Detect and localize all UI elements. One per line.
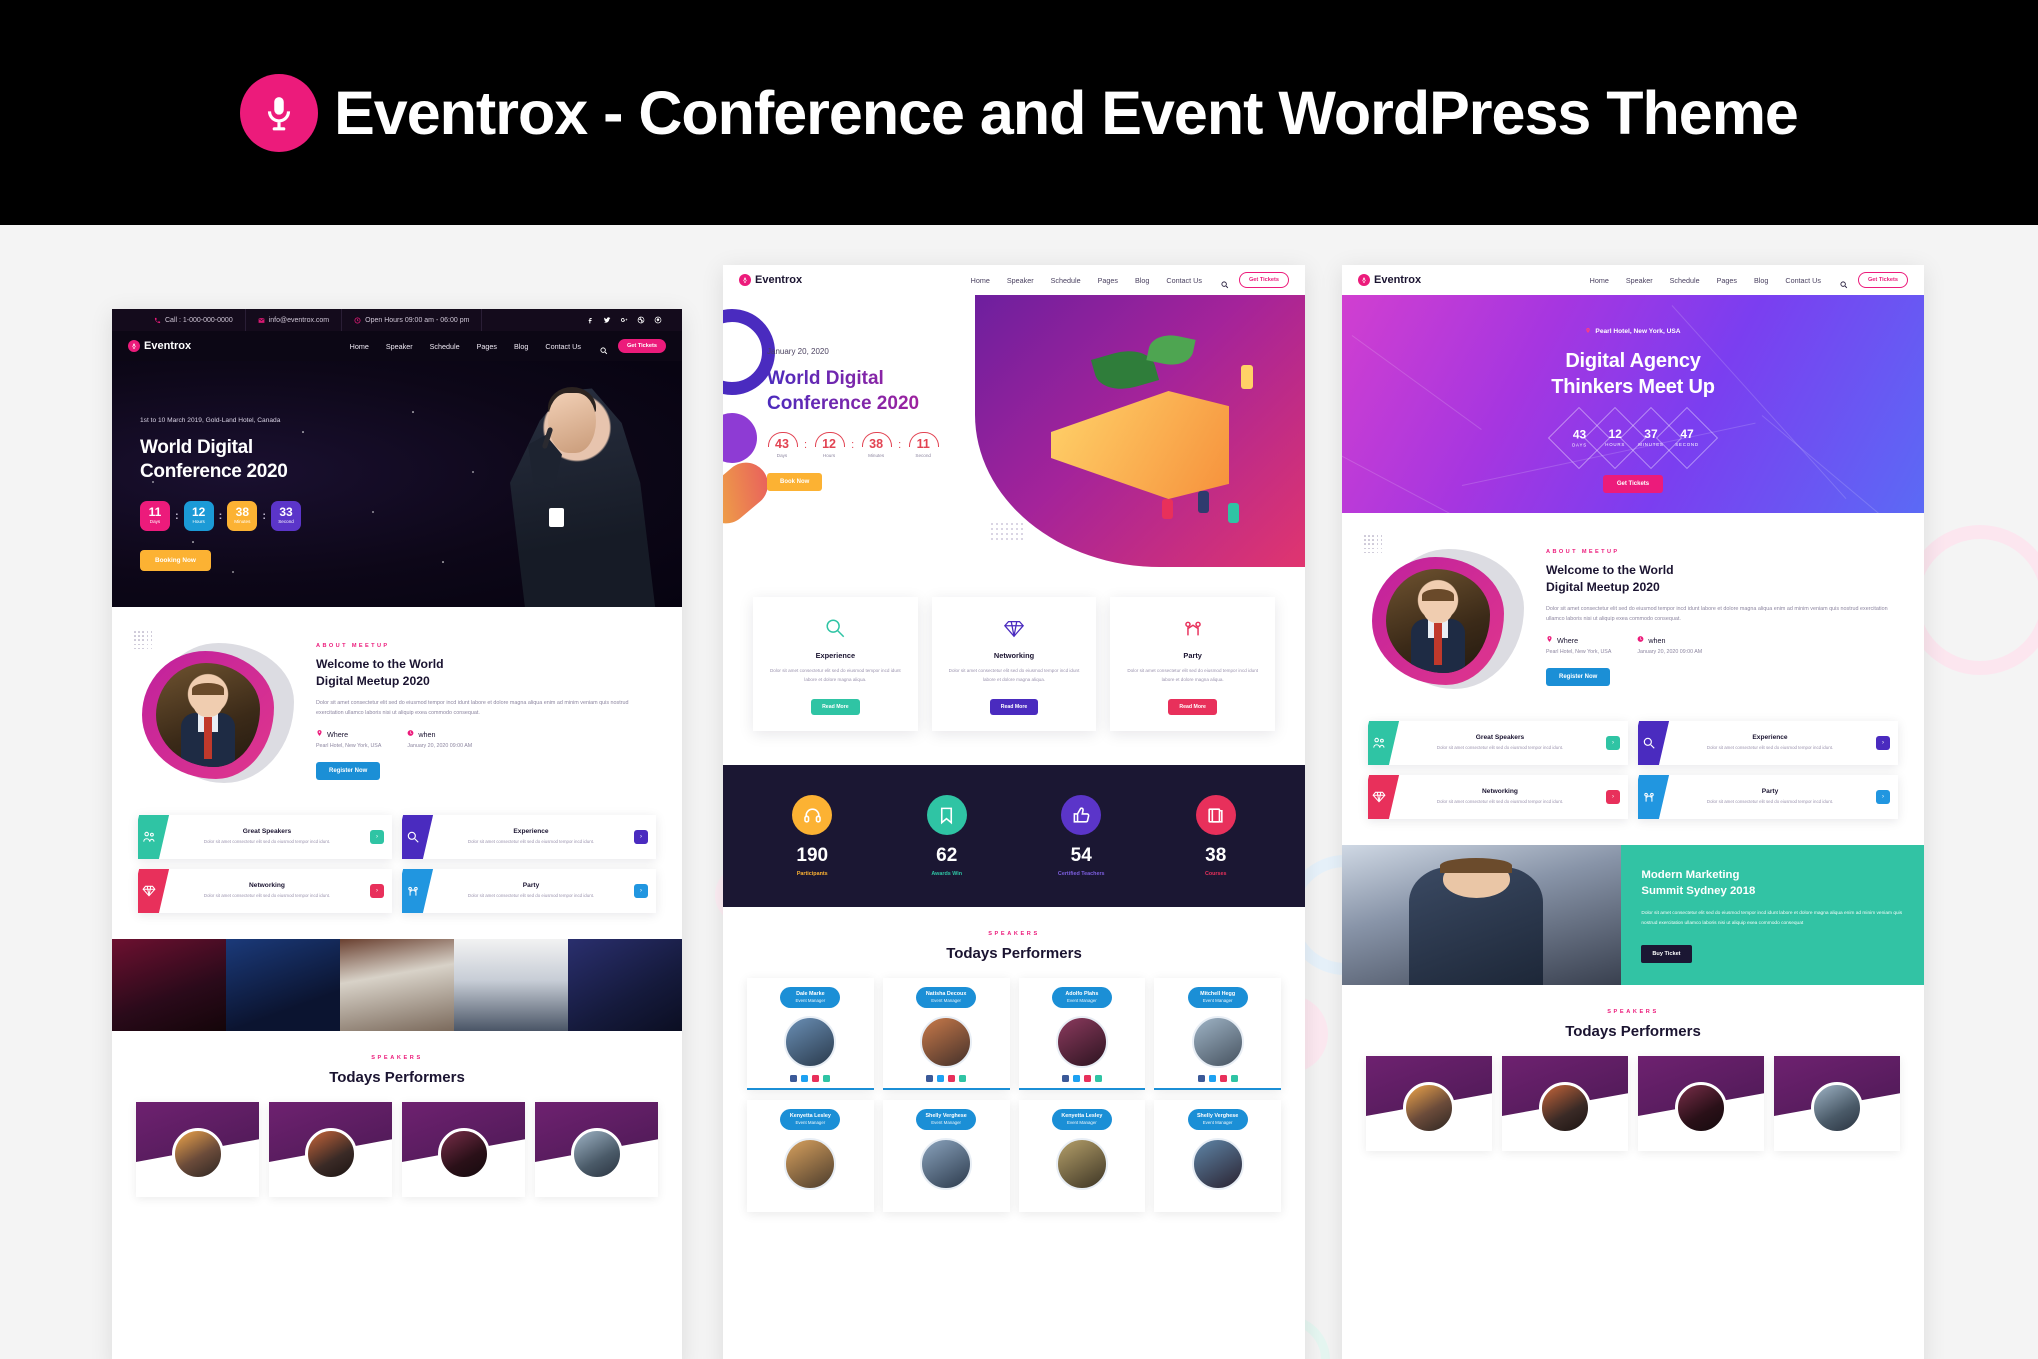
speaker-role: Event Manager xyxy=(922,1120,970,1126)
avatar xyxy=(1056,1138,1108,1190)
feature-cards: Great Speakers Dolor sit amet consectetu… xyxy=(112,807,682,939)
feature-title: Experience xyxy=(432,828,630,835)
social-links xyxy=(1160,1075,1275,1082)
search-icon[interactable] xyxy=(1839,276,1848,285)
facebook-icon[interactable] xyxy=(790,1075,797,1082)
envelope-icon xyxy=(258,317,265,324)
stat-label: Participants xyxy=(745,871,880,877)
stat-label: Courses xyxy=(1149,871,1284,877)
stat-certified-teachers: 54 Certified Teachers xyxy=(1014,795,1149,877)
speakers-heading: Todays Performers xyxy=(112,1069,682,1086)
hero-location-text: Pearl Hotel, New York, USA xyxy=(1595,328,1680,335)
chevron-right-icon[interactable]: › xyxy=(1876,736,1890,750)
about-when: when January 20, 2020 09:00 AM xyxy=(407,729,472,749)
microphone-icon xyxy=(739,274,751,286)
about-when-label: when xyxy=(418,730,435,739)
speaker-card[interactable]: Dale MarkeEvent Manager xyxy=(747,978,874,1090)
feature-text: Dolor sit amet consectetur elit sed do e… xyxy=(168,892,366,900)
nav-right: Get Tickets xyxy=(1839,272,1908,288)
hero-dark: 1st to 10 March 2019, Gold-Land Hotel, C… xyxy=(112,361,682,607)
thumbs-up-icon xyxy=(1061,795,1101,835)
avatar xyxy=(920,1138,972,1190)
speakers-kicker: SPEAKERS xyxy=(112,1055,682,1061)
hero-title-line1: World Digital xyxy=(767,367,938,392)
party-people-icon xyxy=(1122,615,1263,641)
speakers-section: SPEAKERS Todays Performers xyxy=(112,1031,682,1197)
mockup-dark-home: Call : 1-000-000-0000 info@eventrox.com … xyxy=(112,309,682,1359)
about-heading-line1: Welcome to the World xyxy=(316,656,656,673)
about-where: Where Pearl Hotel, New York, USA xyxy=(316,729,381,749)
book-now-button[interactable]: Book Now xyxy=(767,473,822,491)
avatar xyxy=(920,1016,972,1068)
about-kicker: ABOUT MEETUP xyxy=(1546,549,1898,555)
chevron-right-icon[interactable]: › xyxy=(634,830,648,844)
get-tickets-button[interactable]: Get Tickets xyxy=(618,339,666,353)
nav-item-home[interactable]: Home xyxy=(350,342,369,351)
speaker-card[interactable] xyxy=(1774,1056,1900,1151)
speaker-tag: Kenyetta LesleyEvent Manager xyxy=(1052,1109,1112,1129)
speaker-card[interactable] xyxy=(1638,1056,1764,1151)
diamond-icon xyxy=(944,615,1085,641)
promo-heading-line1: Modern Marketing xyxy=(1641,867,1904,883)
speaker-tag: Shelly VergheseEvent Manager xyxy=(1188,1109,1248,1129)
speaker-tag: Kenyetta LesleyEvent Manager xyxy=(780,1109,840,1129)
hero-title-line2: Conference 2020 xyxy=(140,460,301,484)
speaker-name: Kenyetta Lesley xyxy=(790,1113,831,1119)
clock-icon xyxy=(1637,635,1644,645)
countdown-separator: : xyxy=(851,439,854,451)
twitter-icon[interactable] xyxy=(801,1075,808,1082)
nav-item-speaker[interactable]: Speaker xyxy=(1007,276,1034,285)
countdown-seconds: 47SECOND xyxy=(1656,407,1718,469)
countdown-seconds: 33Second xyxy=(271,501,301,531)
get-tickets-button[interactable]: Get Tickets xyxy=(1858,272,1908,288)
countdown-minutes: 38Minutes xyxy=(227,501,257,531)
about-heading-line2: Digital Meetup 2020 xyxy=(1546,579,1898,596)
nav-item-home[interactable]: Home xyxy=(1590,276,1609,285)
feature-title: Great Speakers xyxy=(168,828,366,835)
countdown-minutes: 38Minutes xyxy=(861,432,891,458)
hero-location: Pearl Hotel, New York, USA xyxy=(1342,327,1924,336)
speakers-kicker: SPEAKERS xyxy=(723,931,1305,937)
countdown-separator: : xyxy=(262,510,266,522)
conference-photo-strip xyxy=(112,939,682,1031)
speaker-tag: Adolfo PlahsEvent Manager xyxy=(1052,987,1112,1007)
brand-name: Eventrox xyxy=(755,274,802,286)
about-heading-line2: Digital Meetup 2020 xyxy=(316,673,656,690)
twitter-icon[interactable] xyxy=(1073,1075,1080,1082)
register-now-button[interactable]: Register Now xyxy=(316,762,380,780)
twitter-icon[interactable] xyxy=(1209,1075,1216,1082)
feature-title: Party xyxy=(432,882,630,889)
person-illustration xyxy=(1162,499,1173,519)
about-when-value: January 20, 2020 09:00 AM xyxy=(407,743,472,749)
main-nav: Eventrox Home Speaker Schedule Pages Blo… xyxy=(723,265,1305,295)
hero-title-line2: Conference 2020 xyxy=(767,392,938,417)
phone-icon xyxy=(154,317,161,324)
linkedin-icon[interactable] xyxy=(1095,1075,1102,1082)
card-experience[interactable]: Experience Dolor sit amet consectetur el… xyxy=(753,597,918,731)
speakers-row xyxy=(112,1102,682,1197)
pinterest-icon[interactable] xyxy=(654,316,662,324)
clock-icon xyxy=(354,317,361,324)
hero-gradient: Pearl Hotel, New York, USA Digital Agenc… xyxy=(1342,295,1924,513)
nav-item-pages[interactable]: Pages xyxy=(1098,276,1118,285)
twitter-icon[interactable] xyxy=(603,316,611,324)
mockups-area: Call : 1-000-000-0000 info@eventrox.com … xyxy=(0,225,2038,1359)
stats-section: 190 Participants 62 Awards Win 54 Certif… xyxy=(723,765,1305,907)
speaker-name: Kenyetta Lesley xyxy=(1061,1113,1102,1119)
about-where: Where Pearl Hotel, New York, USA xyxy=(1546,635,1611,655)
photo-1 xyxy=(112,939,226,1031)
nav-item-pages[interactable]: Pages xyxy=(1717,276,1737,285)
speaker-name: Dale Marke xyxy=(796,991,824,997)
countdown-timer: 43DAYS 12HOURS 37MINUTES 47SECOND xyxy=(1342,416,1924,460)
speaker-card[interactable]: Adolfo PlahsEvent Manager xyxy=(1019,978,1146,1090)
speakers-row-2: Kenyetta LesleyEvent Manager Shelly Verg… xyxy=(723,1100,1305,1212)
hero-title-line2: Thinkers Meet Up xyxy=(1342,374,1924,400)
photo-3 xyxy=(340,939,454,1031)
card-text: Dolor sit amet consectetur elit sed do e… xyxy=(944,667,1085,684)
brand-name: Eventrox xyxy=(1374,274,1421,286)
speakers-kicker: SPEAKERS xyxy=(1342,1009,1924,1015)
speaker-card[interactable]: Shelly VergheseEvent Manager xyxy=(1154,1100,1281,1212)
stat-label: Awards Win xyxy=(880,871,1015,877)
main-nav: Eventrox Home Speaker Schedule Pages Blo… xyxy=(1342,265,1924,295)
speaker-name: Shelly Verghese xyxy=(925,1113,966,1119)
countdown-days: 43Days xyxy=(767,432,797,458)
page-title: Eventrox - Conference and Event WordPres… xyxy=(334,78,1798,148)
nav-item-home[interactable]: Home xyxy=(971,276,990,285)
dribbble-icon[interactable] xyxy=(637,316,645,324)
facebook-icon[interactable] xyxy=(1062,1075,1069,1082)
avatar xyxy=(784,1138,836,1190)
hero-content: Pearl Hotel, New York, USA Digital Agenc… xyxy=(1342,327,1924,493)
speaker-tag: Natisha DecouxEvent Manager xyxy=(916,987,976,1007)
stat-value: 190 xyxy=(745,846,880,865)
stat-participants: 190 Participants xyxy=(745,795,880,877)
speaker-card[interactable] xyxy=(136,1102,259,1197)
mockup-gradient-home: Eventrox Home Speaker Schedule Pages Blo… xyxy=(1342,265,1924,1359)
feature-title: Party xyxy=(1668,788,1872,795)
hero-date: January 20, 2020 xyxy=(767,347,938,356)
topbar-hours: Open Hours 09:00 am - 06:00 pm xyxy=(342,309,482,331)
about-heading-line1: Welcome to the World xyxy=(1546,562,1898,579)
avatar xyxy=(1056,1016,1108,1068)
promo-image xyxy=(1342,845,1621,985)
about-where-value: Pearl Hotel, New York, USA xyxy=(1546,649,1611,655)
about-when: when January 20, 2020 09:00 AM xyxy=(1637,635,1702,655)
card-networking[interactable]: Networking Dolor sit amet consectetur el… xyxy=(932,597,1097,731)
hero-title-line1: Digital Agency xyxy=(1342,348,1924,374)
card-party[interactable]: Party Dolor sit amet consectetur elit se… xyxy=(1110,597,1275,731)
countdown-separator: : xyxy=(175,510,179,522)
instagram-icon[interactable] xyxy=(1084,1075,1091,1082)
feature-card-party[interactable]: Party Dolor sit amet consectetur elit se… xyxy=(402,869,656,913)
stat-label: Certified Teachers xyxy=(1014,871,1149,877)
instagram-icon[interactable] xyxy=(812,1075,819,1082)
facebook-icon[interactable] xyxy=(926,1075,933,1082)
person-illustration xyxy=(1198,491,1209,513)
speakers-row xyxy=(1342,1056,1924,1151)
about-paragraph: Dolor sit amet consectetur elit sed do e… xyxy=(316,698,656,720)
card-text: Dolor sit amet consectetur elit sed do e… xyxy=(765,667,906,684)
chevron-right-icon[interactable]: › xyxy=(1606,790,1620,804)
nav-item-speaker[interactable]: Speaker xyxy=(386,342,413,351)
get-tickets-button[interactable]: Get Tickets xyxy=(1603,475,1663,493)
magnifier-icon xyxy=(765,615,906,641)
nav-links: Home Speaker Schedule Pages Blog Contact… xyxy=(1590,276,1821,285)
photo-5 xyxy=(568,939,682,1031)
photo-4 xyxy=(454,939,568,1031)
topbar-hours-text: Open Hours 09:00 am - 06:00 pm xyxy=(365,317,469,324)
countdown-separator: : xyxy=(898,439,901,451)
speaker-role: Event Manager xyxy=(786,998,834,1004)
book-icon xyxy=(1196,795,1236,835)
google-plus-icon[interactable] xyxy=(620,316,628,324)
speaker-badge xyxy=(549,508,564,527)
map-pin-icon xyxy=(1546,635,1553,645)
nav-item-blog[interactable]: Blog xyxy=(1135,276,1149,285)
feature-card-networking[interactable]: Networking Dolor sit amet consectetur el… xyxy=(138,869,392,913)
stat-awards-win: 62 Awards Win xyxy=(880,795,1015,877)
topbar-email[interactable]: info@eventrox.com xyxy=(246,309,342,331)
countdown-days: 11Days xyxy=(140,501,170,531)
speaker-role: Event Manager xyxy=(1058,998,1106,1004)
speaker-card[interactable]: Shelly VergheseEvent Manager xyxy=(883,1100,1010,1212)
feature-cards: Great Speakers Dolor sit amet consectetu… xyxy=(1342,713,1924,845)
search-icon[interactable] xyxy=(599,342,608,351)
nav-item-blog[interactable]: Blog xyxy=(514,342,528,351)
decor-dot-grid xyxy=(991,523,1023,540)
feature-cards-3up: Experience Dolor sit amet consectetur el… xyxy=(723,567,1305,765)
speaker-card[interactable] xyxy=(402,1102,525,1197)
chevron-right-icon[interactable]: › xyxy=(634,884,648,898)
photo-2 xyxy=(226,939,340,1031)
about-section: ABOUT MEETUP Welcome to the World Digita… xyxy=(1342,513,1924,713)
instagram-icon[interactable] xyxy=(948,1075,955,1082)
feature-text: Dolor sit amet consectetur elit sed do e… xyxy=(432,892,630,900)
map-pin-icon xyxy=(316,729,323,739)
nav-item-schedule[interactable]: Schedule xyxy=(1670,276,1700,285)
decor-ring-2 xyxy=(1905,525,2038,675)
hero-content: 1st to 10 March 2019, Gold-Land Hotel, C… xyxy=(140,417,301,571)
speaker-name: Shelly Verghese xyxy=(1197,1113,1238,1119)
nav-item-schedule[interactable]: Schedule xyxy=(430,342,460,351)
countdown-timer: 43Days : 12Hours : 38Minutes : 11Second xyxy=(767,432,938,458)
countdown-hours: 12Hours xyxy=(184,501,214,531)
headphones-icon xyxy=(792,795,832,835)
map-pin-icon xyxy=(1585,327,1591,336)
feature-text: Dolor sit amet consectetur elit sed do e… xyxy=(1668,798,1872,806)
promo-section: Modern Marketing Summit Sydney 2018 Dolo… xyxy=(1342,845,1924,985)
about-where-value: Pearl Hotel, New York, USA xyxy=(316,743,381,749)
microphone-icon xyxy=(128,340,140,352)
topbar-phone-text: Call : 1-000-000-0000 xyxy=(165,317,233,324)
nav-right: Get Tickets xyxy=(599,339,666,353)
avatar xyxy=(305,1128,357,1180)
speaker-card[interactable]: Kenyetta LesleyEvent Manager xyxy=(747,1100,874,1212)
speaker-tag: Dale MarkeEvent Manager xyxy=(780,987,840,1007)
page-root: Eventrox - Conference and Event WordPres… xyxy=(0,0,2038,1359)
speaker-role: Event Manager xyxy=(1194,998,1242,1004)
speakers-section: SPEAKERS Todays Performers Dale MarkeEve… xyxy=(723,907,1305,1212)
hero-light: January 20, 2020 World Digital Conferenc… xyxy=(723,295,1305,567)
avatar xyxy=(1192,1016,1244,1068)
nav-links: Home Speaker Schedule Pages Blog Contact… xyxy=(350,342,581,351)
social-links xyxy=(1025,1075,1140,1082)
about-paragraph: Dolor sit amet consectetur elit sed do e… xyxy=(1546,604,1898,626)
topbar: Call : 1-000-000-0000 info@eventrox.com … xyxy=(112,309,682,331)
linkedin-icon[interactable] xyxy=(823,1075,830,1082)
stat-value: 54 xyxy=(1014,846,1149,865)
speaker-role: Event Manager xyxy=(786,1120,834,1126)
about-where-label: Where xyxy=(1557,636,1578,645)
feature-card-networking[interactable]: Networking Dolor sit amet consectetur el… xyxy=(1368,775,1628,819)
brand-logo[interactable]: Eventrox xyxy=(1358,274,1421,286)
nav-right: Get Tickets xyxy=(1220,272,1289,288)
about-image xyxy=(138,637,302,789)
countdown-hours: 12Hours xyxy=(814,432,844,458)
person-illustration xyxy=(1241,365,1253,389)
nav-item-blog[interactable]: Blog xyxy=(1754,276,1768,285)
mockup-light-home: Eventrox Home Speaker Schedule Pages Blo… xyxy=(723,265,1305,1359)
social-links xyxy=(889,1075,1004,1082)
microphone-icon xyxy=(240,74,318,152)
topbar-phone[interactable]: Call : 1-000-000-0000 xyxy=(126,309,246,331)
speaker-role: Event Manager xyxy=(1058,1120,1106,1126)
feature-title: Great Speakers xyxy=(1398,734,1602,741)
nav-item-schedule[interactable]: Schedule xyxy=(1051,276,1081,285)
speaker-head xyxy=(548,393,596,453)
topbar-socials xyxy=(586,316,668,324)
feature-card-great-speakers[interactable]: Great Speakers Dolor sit amet consectetu… xyxy=(138,815,392,859)
stat-courses: 38 Courses xyxy=(1149,795,1284,877)
about-kicker: ABOUT MEETUP xyxy=(316,643,656,649)
feature-card-experience[interactable]: Experience Dolor sit amet consectetur el… xyxy=(402,815,656,859)
speakers-heading: Todays Performers xyxy=(1342,1023,1924,1040)
avatar xyxy=(784,1016,836,1068)
feature-card-experience[interactable]: Experience Dolor sit amet consectetur el… xyxy=(1638,721,1898,765)
speaker-card[interactable] xyxy=(269,1102,392,1197)
nav-item-contact-us[interactable]: Contact Us xyxy=(1166,276,1202,285)
hero-subtitle: 1st to 10 March 2019, Gold-Land Hotel, C… xyxy=(140,417,301,424)
speaker-role: Event Manager xyxy=(922,998,970,1004)
nav-item-contact-us[interactable]: Contact Us xyxy=(1785,276,1821,285)
read-more-button[interactable]: Read More xyxy=(1168,699,1217,715)
avatar xyxy=(172,1128,224,1180)
linkedin-icon[interactable] xyxy=(1231,1075,1238,1082)
chevron-right-icon[interactable]: › xyxy=(370,830,384,844)
person-illustration xyxy=(1228,503,1239,523)
avatar xyxy=(1403,1082,1455,1134)
facebook-icon[interactable] xyxy=(586,316,594,324)
avatar xyxy=(438,1128,490,1180)
speaker-name: Adolfo Plahs xyxy=(1065,991,1098,997)
feature-text: Dolor sit amet consectetur elit sed do e… xyxy=(1398,798,1602,806)
speaker-card[interactable] xyxy=(1366,1056,1492,1151)
avatar xyxy=(571,1128,623,1180)
register-now-button[interactable]: Register Now xyxy=(1546,668,1610,686)
speakers-section: SPEAKERS Todays Performers xyxy=(1342,985,1924,1151)
card-title: Party xyxy=(1122,651,1263,660)
stat-value: 38 xyxy=(1149,846,1284,865)
speaker-card[interactable] xyxy=(535,1102,658,1197)
brand-name: Eventrox xyxy=(144,340,191,352)
feature-text: Dolor sit amet consectetur elit sed do e… xyxy=(432,838,630,846)
nav-item-speaker[interactable]: Speaker xyxy=(1626,276,1653,285)
buy-ticket-button[interactable]: Buy Ticket xyxy=(1641,945,1691,963)
search-icon[interactable] xyxy=(1220,276,1229,285)
avatar xyxy=(1539,1082,1591,1134)
main-nav: Eventrox Home Speaker Schedule Pages Blo… xyxy=(112,331,682,361)
feature-title: Networking xyxy=(1398,788,1602,795)
twitter-icon[interactable] xyxy=(937,1075,944,1082)
hero-content: January 20, 2020 World Digital Conferenc… xyxy=(767,347,938,491)
speaker-card[interactable]: Natisha DecouxEvent Manager xyxy=(883,978,1010,1090)
speaker-tag: Shelly VergheseEvent Manager xyxy=(916,1109,976,1129)
nav-links: Home Speaker Schedule Pages Blog Contact… xyxy=(971,276,1202,285)
about-when-label: when xyxy=(1648,636,1665,645)
card-title: Networking xyxy=(944,651,1085,660)
speaker-card[interactable]: Kenyetta LesleyEvent Manager xyxy=(1019,1100,1146,1212)
read-more-button[interactable]: Read More xyxy=(990,699,1039,715)
feature-text: Dolor sit amet consectetur elit sed do e… xyxy=(1668,744,1872,752)
avatar xyxy=(1192,1138,1244,1190)
topbar-email-text: info@eventrox.com xyxy=(269,317,329,324)
chevron-right-icon[interactable]: › xyxy=(370,884,384,898)
speaker-card[interactable]: Mitchell HeggEvent Manager xyxy=(1154,978,1281,1090)
nav-item-pages[interactable]: Pages xyxy=(477,342,497,351)
linkedin-icon[interactable] xyxy=(959,1075,966,1082)
speaker-role: Event Manager xyxy=(1194,1120,1242,1126)
instagram-icon[interactable] xyxy=(1220,1075,1227,1082)
feature-card-party[interactable]: Party Dolor sit amet consectetur elit se… xyxy=(1638,775,1898,819)
microphone-icon xyxy=(1358,274,1370,286)
speaker-card[interactable] xyxy=(1502,1056,1628,1151)
title-banner: Eventrox - Conference and Event WordPres… xyxy=(0,0,2038,225)
card-title: Experience xyxy=(765,651,906,660)
booking-now-button[interactable]: Booking Now xyxy=(140,550,211,571)
feature-title: Experience xyxy=(1668,734,1872,741)
speaker-tag: Mitchell HeggEvent Manager xyxy=(1188,987,1248,1007)
hero-title-line1: World Digital xyxy=(140,436,301,460)
brand-logo[interactable]: Eventrox xyxy=(739,274,802,286)
nav-item-contact-us[interactable]: Contact Us xyxy=(545,342,581,351)
get-tickets-button[interactable]: Get Tickets xyxy=(1239,272,1289,288)
read-more-button[interactable]: Read More xyxy=(811,699,860,715)
about-image xyxy=(1368,543,1532,695)
chevron-right-icon[interactable]: › xyxy=(1876,790,1890,804)
speakers-row-1: Dale MarkeEvent Manager Natisha DecouxEv… xyxy=(723,978,1305,1090)
countdown-separator: : xyxy=(804,439,807,451)
card-text: Dolor sit amet consectetur elit sed do e… xyxy=(1122,667,1263,684)
countdown-seconds: 11Second xyxy=(908,432,938,458)
chevron-right-icon[interactable]: › xyxy=(1606,736,1620,750)
promo-text: Dolor sit amet consectetur elit sed do e… xyxy=(1641,909,1904,929)
brand-logo[interactable]: Eventrox xyxy=(128,340,191,352)
feature-text: Dolor sit amet consectetur elit sed do e… xyxy=(1398,744,1602,752)
avatar xyxy=(1675,1082,1727,1134)
facebook-icon[interactable] xyxy=(1198,1075,1205,1082)
feature-text: Dolor sit amet consectetur elit sed do e… xyxy=(168,838,366,846)
countdown-timer: 11Days : 12Hours : 38Minutes : 33Second xyxy=(140,501,301,531)
avatar xyxy=(1811,1082,1863,1134)
promo-heading-line2: Summit Sydney 2018 xyxy=(1641,883,1904,899)
speaker-name: Mitchell Hegg xyxy=(1200,991,1235,997)
speakers-heading: Todays Performers xyxy=(723,945,1305,962)
feature-card-great-speakers[interactable]: Great Speakers Dolor sit amet consectetu… xyxy=(1368,721,1628,765)
